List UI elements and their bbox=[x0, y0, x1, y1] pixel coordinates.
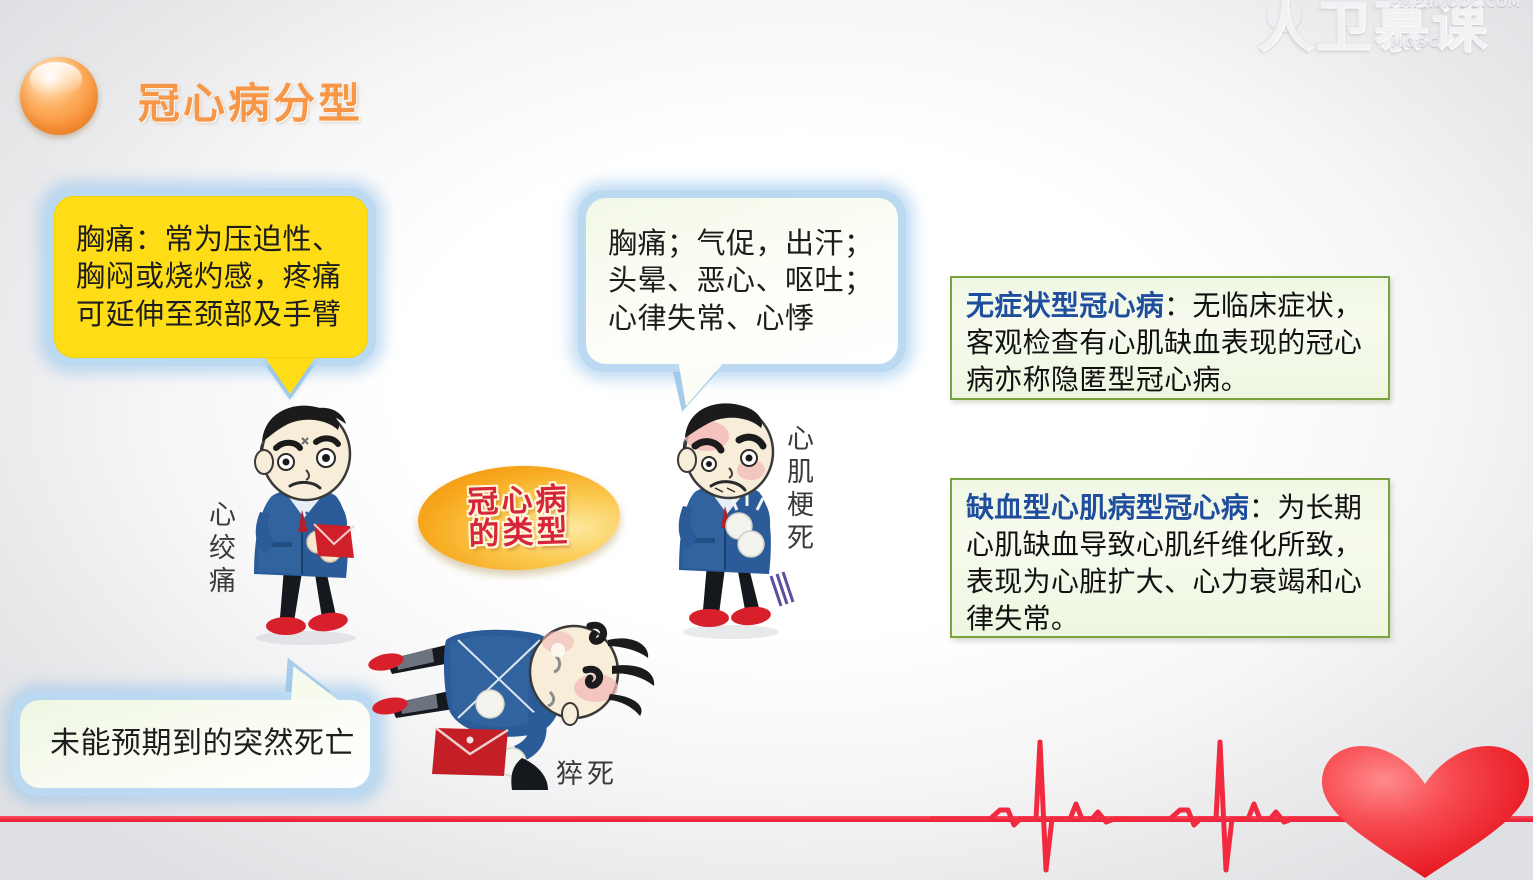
speech-bubble-sudden-death: 未能预期到的突然死亡 bbox=[12, 692, 378, 796]
center-oval-line2: 的类型 bbox=[468, 516, 571, 551]
figure-label-angina: 心绞痛 bbox=[206, 500, 233, 599]
heart-icon bbox=[1318, 744, 1533, 880]
slide-canvas: 人卫慕课 PMPHMOOC.COM MOOC 冠心病分型 胸痛：常为压迫性、 胸… bbox=[0, 0, 1533, 880]
info-panel-title: 缺血型心肌病型冠心病 bbox=[966, 491, 1249, 524]
bubble-text-myocardial-infarction: 胸痛；气促，出汗； 头晕、恶心、呕吐； 心律失常、心悸 bbox=[586, 225, 874, 336]
bubble-tail bbox=[264, 356, 316, 394]
page-title: 冠心病分型 bbox=[138, 70, 363, 131]
logo-url-text: PMPHMOOC.COM bbox=[1389, 0, 1521, 11]
pmph-mooc-watermark-logo: 人卫慕课 PMPHMOOC.COM MOOC bbox=[1257, 0, 1525, 62]
speech-bubble-myocardial-infarction: 胸痛；气促，出汗； 头晕、恶心、呕吐； 心律失常、心悸 bbox=[578, 190, 906, 372]
ecg-waveform bbox=[930, 700, 1360, 880]
bubble-body: 胸痛；气促，出汗； 头晕、恶心、呕吐； 心律失常、心悸 bbox=[586, 198, 898, 364]
info-panel-text: 无症状型冠心病：无临床症状，客观检查有心肌缺血表现的冠心病亦称隐匿型冠心病。 bbox=[966, 288, 1376, 399]
center-oval-label: 冠心病 的类型 bbox=[416, 463, 622, 574]
info-panel-ischemic-cardiomyopathy: 缺血型心肌病型冠心病：为长期心肌缺血导致心肌纤维化所致，表现为心脏扩大、心力衰竭… bbox=[950, 478, 1390, 638]
speech-bubble-angina: 胸痛：常为压迫性、 胸闷或烧灼感，疼痛 可延伸至颈部及手臂 bbox=[46, 188, 376, 366]
info-panel-asymptomatic: 无症状型冠心病：无临床症状，客观检查有心肌缺血表现的冠心病亦称隐匿型冠心病。 bbox=[950, 276, 1390, 400]
logo-brand-text: 人卫慕课 bbox=[1257, 0, 1525, 60]
info-panel-text: 缺血型心肌病型冠心病：为长期心肌缺血导致心肌纤维化所致，表现为心脏扩大、心力衰竭… bbox=[966, 490, 1376, 638]
logo-emblem-icon bbox=[1267, 0, 1301, 32]
bubble-text-angina: 胸痛：常为压迫性、 胸闷或烧灼感，疼痛 可延伸至颈部及手臂 bbox=[54, 221, 342, 332]
title-bullet-icon bbox=[20, 57, 98, 135]
bubble-body: 胸痛：常为压迫性、 胸闷或烧灼感，疼痛 可延伸至颈部及手臂 bbox=[54, 196, 368, 358]
figure-label-sudden-death: 猝死 bbox=[556, 752, 618, 791]
info-panel-title: 无症状型冠心病 bbox=[966, 289, 1164, 322]
figure-label-myocardial-infarction: 心肌梗死 bbox=[784, 424, 811, 556]
logo-sub-text: MOOC bbox=[1390, 36, 1439, 51]
bubble-text-sudden-death: 未能预期到的突然死亡 bbox=[20, 725, 355, 763]
bubble-body: 未能预期到的突然死亡 bbox=[20, 700, 370, 788]
